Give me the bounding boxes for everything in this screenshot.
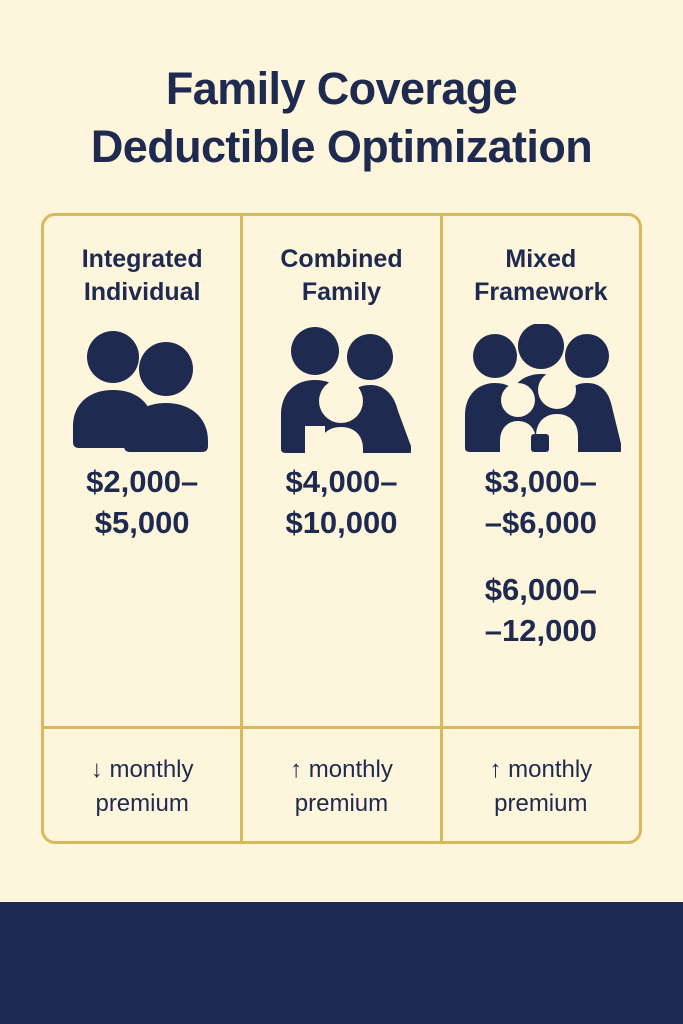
column-2-footer-label: monthly premium [295, 756, 393, 817]
comparison-table: Integrated Individual $2,000– $ [41, 213, 642, 844]
arrow-down-icon: ↓ [91, 756, 103, 783]
column-2-body: Combined Family [243, 216, 439, 729]
column-1-header: Integrated Individual [82, 243, 203, 309]
arrow-up-icon: ↑ [290, 756, 302, 783]
column-3-header: Mixed Framework [474, 243, 607, 309]
value-block: $2,000– $5,000 [86, 461, 198, 543]
family-of-three-icon [271, 323, 411, 453]
column-1-footer-text: ↓ monthly premium [91, 753, 194, 821]
page-title: Family Coverage Deductible Optimization [0, 60, 683, 176]
two-people-icon [67, 323, 217, 453]
column-combined-family: Combined Family [240, 216, 439, 841]
title-line-2: Deductible Optimization [0, 118, 683, 176]
infographic-poster: Family Coverage Deductible Optimization … [0, 0, 683, 1024]
column-1-values: $2,000– $5,000 [86, 461, 198, 543]
column-3-footer: ↑ monthly premium [443, 732, 639, 841]
column-mixed-framework: Mixed Framework [440, 216, 639, 841]
column-3-values: $3,000– –$6,000 $6,000– –12,000 [485, 461, 597, 651]
arrow-up-icon: ↑ [489, 756, 501, 783]
column-2-footer-text: ↑ monthly premium [290, 753, 393, 821]
value-block: $6,000– –12,000 [485, 569, 597, 651]
column-1-footer-label: monthly premium [95, 756, 193, 817]
column-integrated-individual: Integrated Individual $2,000– $ [44, 216, 240, 841]
column-1-footer: ↓ monthly premium [44, 732, 240, 841]
value-block: $3,000– –$6,000 [485, 461, 597, 543]
title-line-1: Family Coverage [0, 60, 683, 118]
column-2-header: Combined Family [280, 243, 402, 309]
bottom-color-band [0, 902, 683, 1024]
family-group-icon [461, 323, 621, 453]
value-block: $4,000– $10,000 [285, 461, 397, 543]
column-1-body: Integrated Individual $2,000– $ [44, 216, 240, 729]
column-3-footer-label: monthly premium [494, 756, 592, 817]
column-2-footer: ↑ monthly premium [243, 732, 439, 841]
column-3-footer-text: ↑ monthly premium [489, 753, 592, 821]
column-2-values: $4,000– $10,000 [285, 461, 397, 543]
column-3-body: Mixed Framework [443, 216, 639, 729]
